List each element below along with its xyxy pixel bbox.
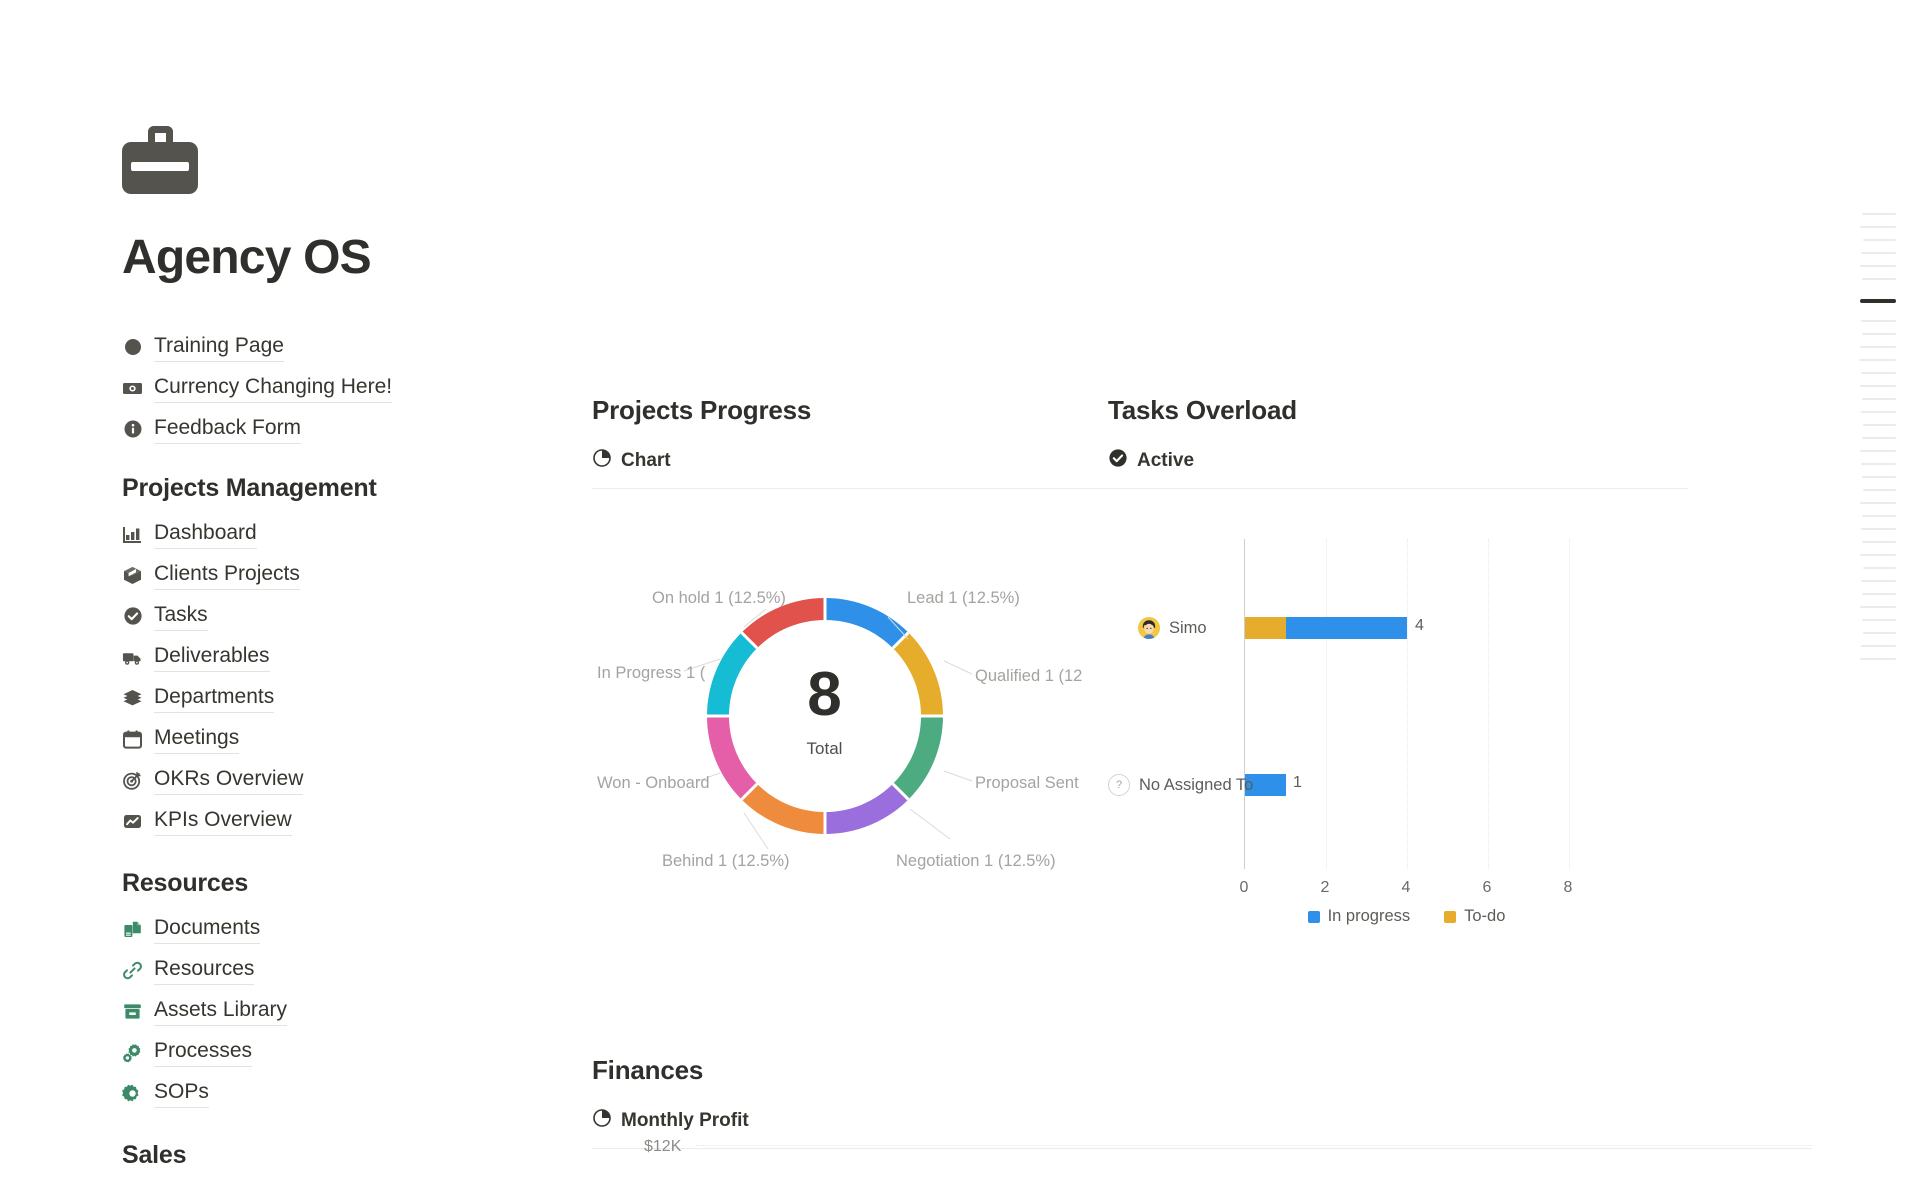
sidebar-item-label: Deliverables — [154, 642, 270, 672]
tab-label: Chart — [621, 450, 671, 472]
sidebar-group-resources: Documents Resources — [122, 909, 552, 1114]
minimap-line[interactable] — [1862, 437, 1896, 439]
sidebar-item-label: Resources — [154, 955, 254, 985]
minimap-line[interactable] — [1861, 372, 1896, 374]
minimap-line[interactable] — [1862, 476, 1896, 478]
minimap-line[interactable] — [1862, 213, 1896, 215]
sidebar-item-currency-changing-here[interactable]: Currency Changing Here! — [122, 368, 552, 409]
minimap-line[interactable] — [1860, 450, 1896, 452]
sidebar-item-label: Clients Projects — [154, 560, 300, 590]
bar-segment-in-progress[interactable] — [1286, 617, 1408, 639]
sidebar-item-kpis-overview[interactable]: KPIs Overview — [122, 801, 552, 842]
table-row[interactable] — [1245, 617, 1407, 639]
sidebar-item-clients-projects[interactable]: Clients Projects — [122, 555, 552, 596]
bar-chart-legend: In progress To-do — [1244, 907, 1569, 926]
minimap-line[interactable] — [1861, 645, 1896, 647]
gear-icon — [122, 1083, 143, 1104]
x-axis-tick: 4 — [1402, 879, 1411, 897]
divider — [592, 488, 1172, 489]
sidebar-item-label: Training Page — [154, 332, 284, 362]
minimap-line-active[interactable] — [1860, 299, 1896, 303]
projects-progress-donut[interactable]: 8 Total Lead 1 (12.5%) Qualified 1 (12 P… — [592, 509, 1172, 939]
minimap-line[interactable] — [1861, 463, 1896, 465]
pie-label-won-onboarding: Won - Onboard — [597, 774, 710, 793]
legend-item-in-progress[interactable]: In progress — [1308, 907, 1411, 926]
legend-item-to-do[interactable]: To-do — [1444, 907, 1505, 926]
sidebar-item-assets-library[interactable]: Assets Library — [122, 991, 552, 1032]
minimap-line[interactable] — [1860, 226, 1896, 228]
projects-progress-block: Projects Progress Chart — [592, 395, 1172, 939]
pie-label-behind: Behind 1 (12.5%) — [662, 852, 790, 871]
sidebar-item-label: Currency Changing Here! — [154, 373, 392, 403]
sidebar-item-feedback-form[interactable]: Feedback Form — [122, 409, 552, 450]
minimap-line[interactable] — [1863, 489, 1896, 491]
sidebar: Agency OS Training Page Currency Changin… — [122, 0, 552, 1181]
minimap-line[interactable] — [1859, 359, 1896, 361]
calendar-icon — [122, 729, 143, 750]
sidebar-item-label: Documents — [154, 914, 260, 944]
gridline — [1488, 539, 1489, 869]
sidebar-item-label: SOPs — [154, 1078, 209, 1108]
minimap-line[interactable] — [1862, 515, 1896, 517]
pie-chart-icon — [592, 1108, 612, 1134]
x-axis-tick: 6 — [1483, 879, 1492, 897]
bar-category-label: No Assigned To — [1139, 776, 1253, 795]
minimap-line[interactable] — [1861, 320, 1896, 322]
minimap-line[interactable] — [1862, 541, 1896, 543]
minimap-line[interactable] — [1863, 567, 1896, 569]
sidebar-item-label: Meetings — [154, 724, 239, 754]
divider — [592, 1148, 1812, 1149]
minimap-line[interactable] — [1860, 554, 1896, 556]
gridline — [1569, 539, 1570, 869]
bar-value-simo: 4 — [1415, 617, 1424, 635]
pie-label-qualified: Qualified 1 (12 — [975, 667, 1082, 686]
pie-label-negotiation: Negotiation 1 (12.5%) — [896, 852, 1056, 871]
documents-icon — [122, 919, 143, 940]
pie-label-on-hold: On hold 1 (12.5%) — [652, 589, 786, 608]
gridline — [1326, 539, 1327, 869]
banknote-icon — [122, 378, 143, 399]
sidebar-item-dashboard[interactable]: Dashboard — [122, 514, 552, 555]
divider — [1108, 488, 1688, 489]
minimap-line[interactable] — [1861, 528, 1896, 530]
avatar — [1138, 617, 1160, 639]
pie-label-proposal-sent: Proposal Sent — [975, 774, 1079, 793]
sidebar-section-sales: Sales — [122, 1141, 552, 1170]
line-chart-icon — [122, 811, 143, 832]
tasks-overload-title: Tasks Overload — [1108, 395, 1688, 426]
minimap-line[interactable] — [1860, 502, 1896, 504]
tab-label: Monthly Profit — [621, 1110, 749, 1132]
minimap-line[interactable] — [1861, 252, 1896, 254]
sidebar-item-deliverables[interactable]: Deliverables — [122, 637, 552, 678]
bar-category-simo[interactable]: Simo — [1138, 617, 1207, 639]
sidebar-item-sops[interactable]: SOPs — [122, 1073, 552, 1114]
pie-label-lead: Lead 1 (12.5%) — [907, 589, 1020, 608]
gridline — [1407, 539, 1408, 869]
bar-category-no-assigned-to[interactable]: ? No Assigned To — [1108, 774, 1253, 796]
bar-plot-area: 4 1 — [1244, 539, 1569, 869]
question-icon: ? — [1108, 774, 1130, 796]
sidebar-item-label: Feedback Form — [154, 414, 301, 444]
legend-swatch-icon — [1308, 911, 1320, 923]
tab-active[interactable]: Active — [1108, 448, 1688, 474]
minimap-line[interactable] — [1861, 580, 1896, 582]
sidebar-group-projects-management: Dashboard Clients Projects — [122, 514, 552, 842]
bar-value-no-assigned-to: 1 — [1293, 774, 1302, 792]
sidebar-section-resources: Resources — [122, 869, 552, 898]
sidebar-item-departments[interactable]: Departments — [122, 678, 552, 719]
bar-chart-icon — [122, 524, 143, 545]
pie-label-in-progress: In Progress 1 ( — [597, 664, 705, 683]
sidebar-section-projects-management: Projects Management — [122, 474, 552, 503]
tasks-overload-block: Tasks Overload Active — [1108, 395, 1688, 939]
sidebar-item-label: Processes — [154, 1037, 252, 1067]
sidebar-item-label: Dashboard — [154, 519, 257, 549]
donut-svg — [592, 509, 1172, 909]
gridline — [696, 1145, 1812, 1146]
sidebar-top-links: Training Page Currency Changing Here! — [122, 327, 552, 450]
box-icon — [122, 565, 143, 586]
circle-icon — [122, 337, 143, 358]
minimap-line[interactable] — [1860, 346, 1896, 348]
briefcase-icon — [122, 126, 198, 188]
tab-monthly-profit[interactable]: Monthly Profit — [592, 1108, 1812, 1134]
minimap-line[interactable] — [1862, 333, 1896, 335]
sidebar-item-label: OKRs Overview — [154, 765, 303, 795]
check-circle-icon — [122, 606, 143, 627]
minimap-line[interactable] — [1861, 411, 1896, 413]
link-icon — [122, 960, 143, 981]
minimap-line[interactable] — [1863, 632, 1896, 634]
minimap-line[interactable] — [1862, 278, 1896, 280]
page-title: Agency OS — [122, 232, 552, 285]
x-axis-tick: 2 — [1321, 879, 1330, 897]
legend-label: In progress — [1328, 907, 1411, 926]
tasks-overload-bar-chart[interactable]: 4 1 — [1108, 509, 1688, 939]
sidebar-item-label: Tasks — [154, 601, 208, 631]
gears-icon — [122, 1042, 143, 1063]
truck-icon — [122, 647, 143, 668]
sidebar-item-meetings[interactable]: Meetings — [122, 719, 552, 760]
sidebar-item-resources[interactable]: Resources — [122, 950, 552, 991]
finances-block: Finances Monthly Profit $12K — [592, 1055, 1812, 1149]
pie-chart-icon — [592, 448, 612, 474]
legend-label: To-do — [1464, 907, 1505, 926]
check-circle-icon — [1108, 448, 1128, 474]
info-icon — [122, 419, 143, 440]
tab-chart[interactable]: Chart — [592, 448, 1172, 474]
minimap-line[interactable] — [1862, 619, 1896, 621]
minimap-line[interactable] — [1862, 398, 1896, 400]
minimap-line[interactable] — [1860, 606, 1896, 608]
projects-progress-title: Projects Progress — [592, 395, 1172, 426]
bar-category-label: Simo — [1169, 619, 1207, 638]
legend-swatch-icon — [1444, 911, 1456, 923]
minimap-line[interactable] — [1860, 385, 1896, 387]
outline-minimap[interactable] — [1850, 0, 1910, 1199]
sidebar-item-label: Departments — [154, 683, 274, 713]
x-axis-tick: 0 — [1240, 879, 1249, 897]
minimap-line[interactable] — [1862, 593, 1896, 595]
dashboard-page: Agency OS Training Page Currency Changin… — [0, 0, 1920, 1199]
sidebar-item-label: Assets Library — [154, 996, 287, 1026]
sidebar-item-tasks[interactable]: Tasks — [122, 596, 552, 637]
minimap-line[interactable] — [1860, 265, 1896, 267]
sidebar-item-processes[interactable]: Processes — [122, 1032, 552, 1073]
minimap-line[interactable] — [1863, 239, 1896, 241]
layers-icon — [122, 688, 143, 709]
x-axis-tick: 8 — [1564, 879, 1573, 897]
main-content: Projects Progress Chart — [592, 0, 1812, 1199]
bar-segment-todo[interactable] — [1245, 617, 1286, 639]
archive-icon — [122, 1001, 143, 1022]
finances-y-axis-tick: $12K — [644, 1138, 681, 1156]
tab-label: Active — [1137, 450, 1194, 472]
sidebar-item-training-page[interactable]: Training Page — [122, 327, 552, 368]
sidebar-item-label: KPIs Overview — [154, 806, 292, 836]
sidebar-item-okrs-overview[interactable]: OKRs Overview — [122, 760, 552, 801]
finances-title: Finances — [592, 1055, 1812, 1086]
minimap-line[interactable] — [1860, 658, 1896, 660]
minimap-line[interactable] — [1863, 424, 1896, 426]
target-icon — [122, 770, 143, 791]
sidebar-item-documents[interactable]: Documents — [122, 909, 552, 950]
